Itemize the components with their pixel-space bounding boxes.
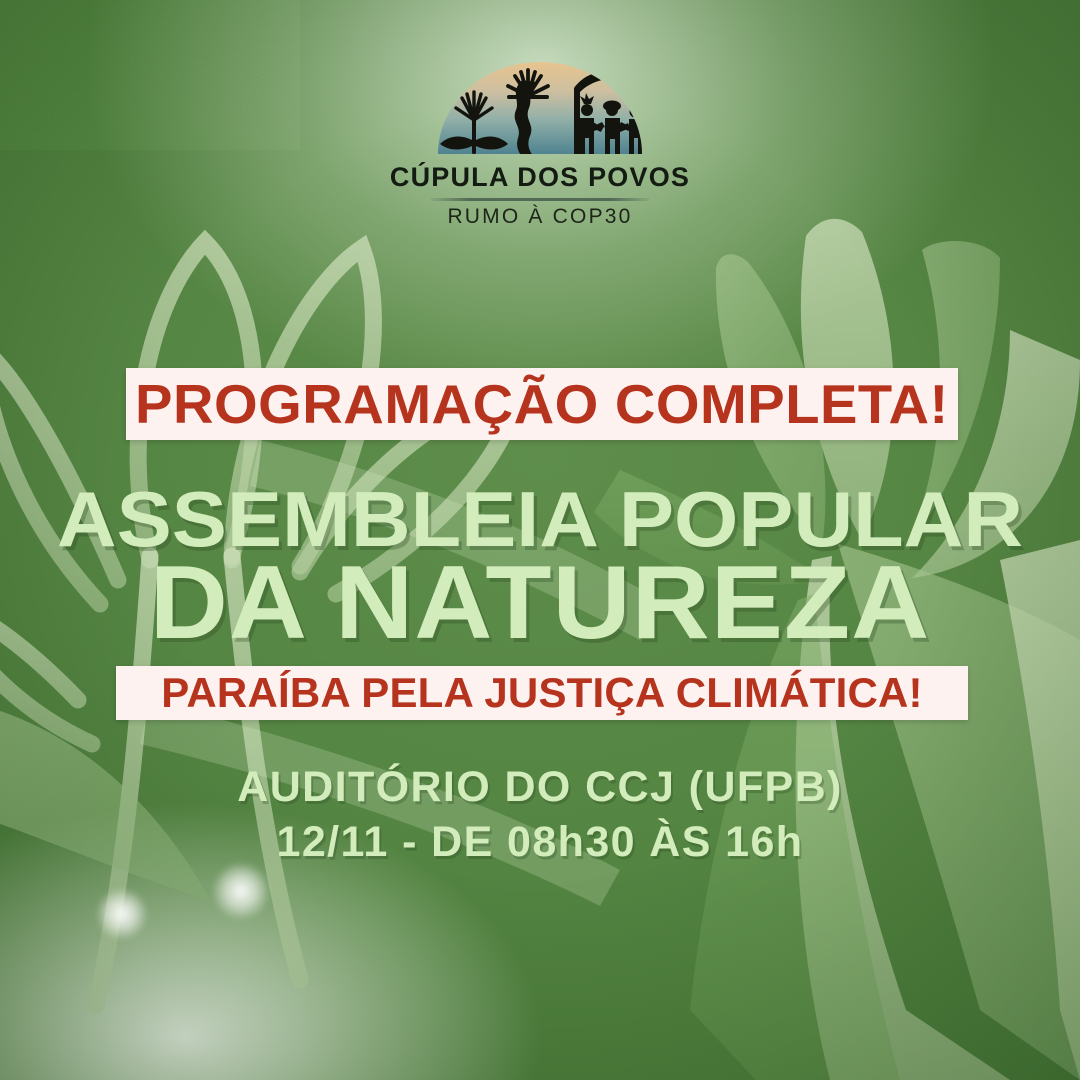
venue-text: AUDITÓRIO DO CCJ (UFPB) [0, 763, 1080, 812]
logo-divider [431, 198, 649, 201]
light-dot-right [212, 862, 270, 920]
date-time-text: 12/11 - DE 08h30 ÀS 16h [0, 818, 1080, 867]
logo-title: CÚPULA DOS POVOS [390, 162, 690, 193]
banner-paraiba-justica-climatica: PARAÍBA PELA JUSTIÇA CLIMÁTICA! [116, 666, 968, 720]
banner-paraiba-text: PARAÍBA PELA JUSTIÇA CLIMÁTICA! [161, 669, 922, 717]
banner-programacao-text: PROGRAMAÇÃO COMPLETA! [135, 372, 949, 436]
headline-line-2: DA NATUREZA [0, 544, 1080, 663]
light-dot-left [96, 888, 148, 940]
event-poster: CÚPULA DOS POVOS RUMO À COP30 PROGRAMAÇÃ… [0, 0, 1080, 1080]
banner-programacao-completa: PROGRAMAÇÃO COMPLETA! [126, 368, 958, 440]
dome-emblem-icon [424, 62, 656, 158]
cupula-dos-povos-logo: CÚPULA DOS POVOS RUMO À COP30 [0, 62, 1080, 229]
logo-subtitle: RUMO À COP30 [447, 205, 632, 229]
